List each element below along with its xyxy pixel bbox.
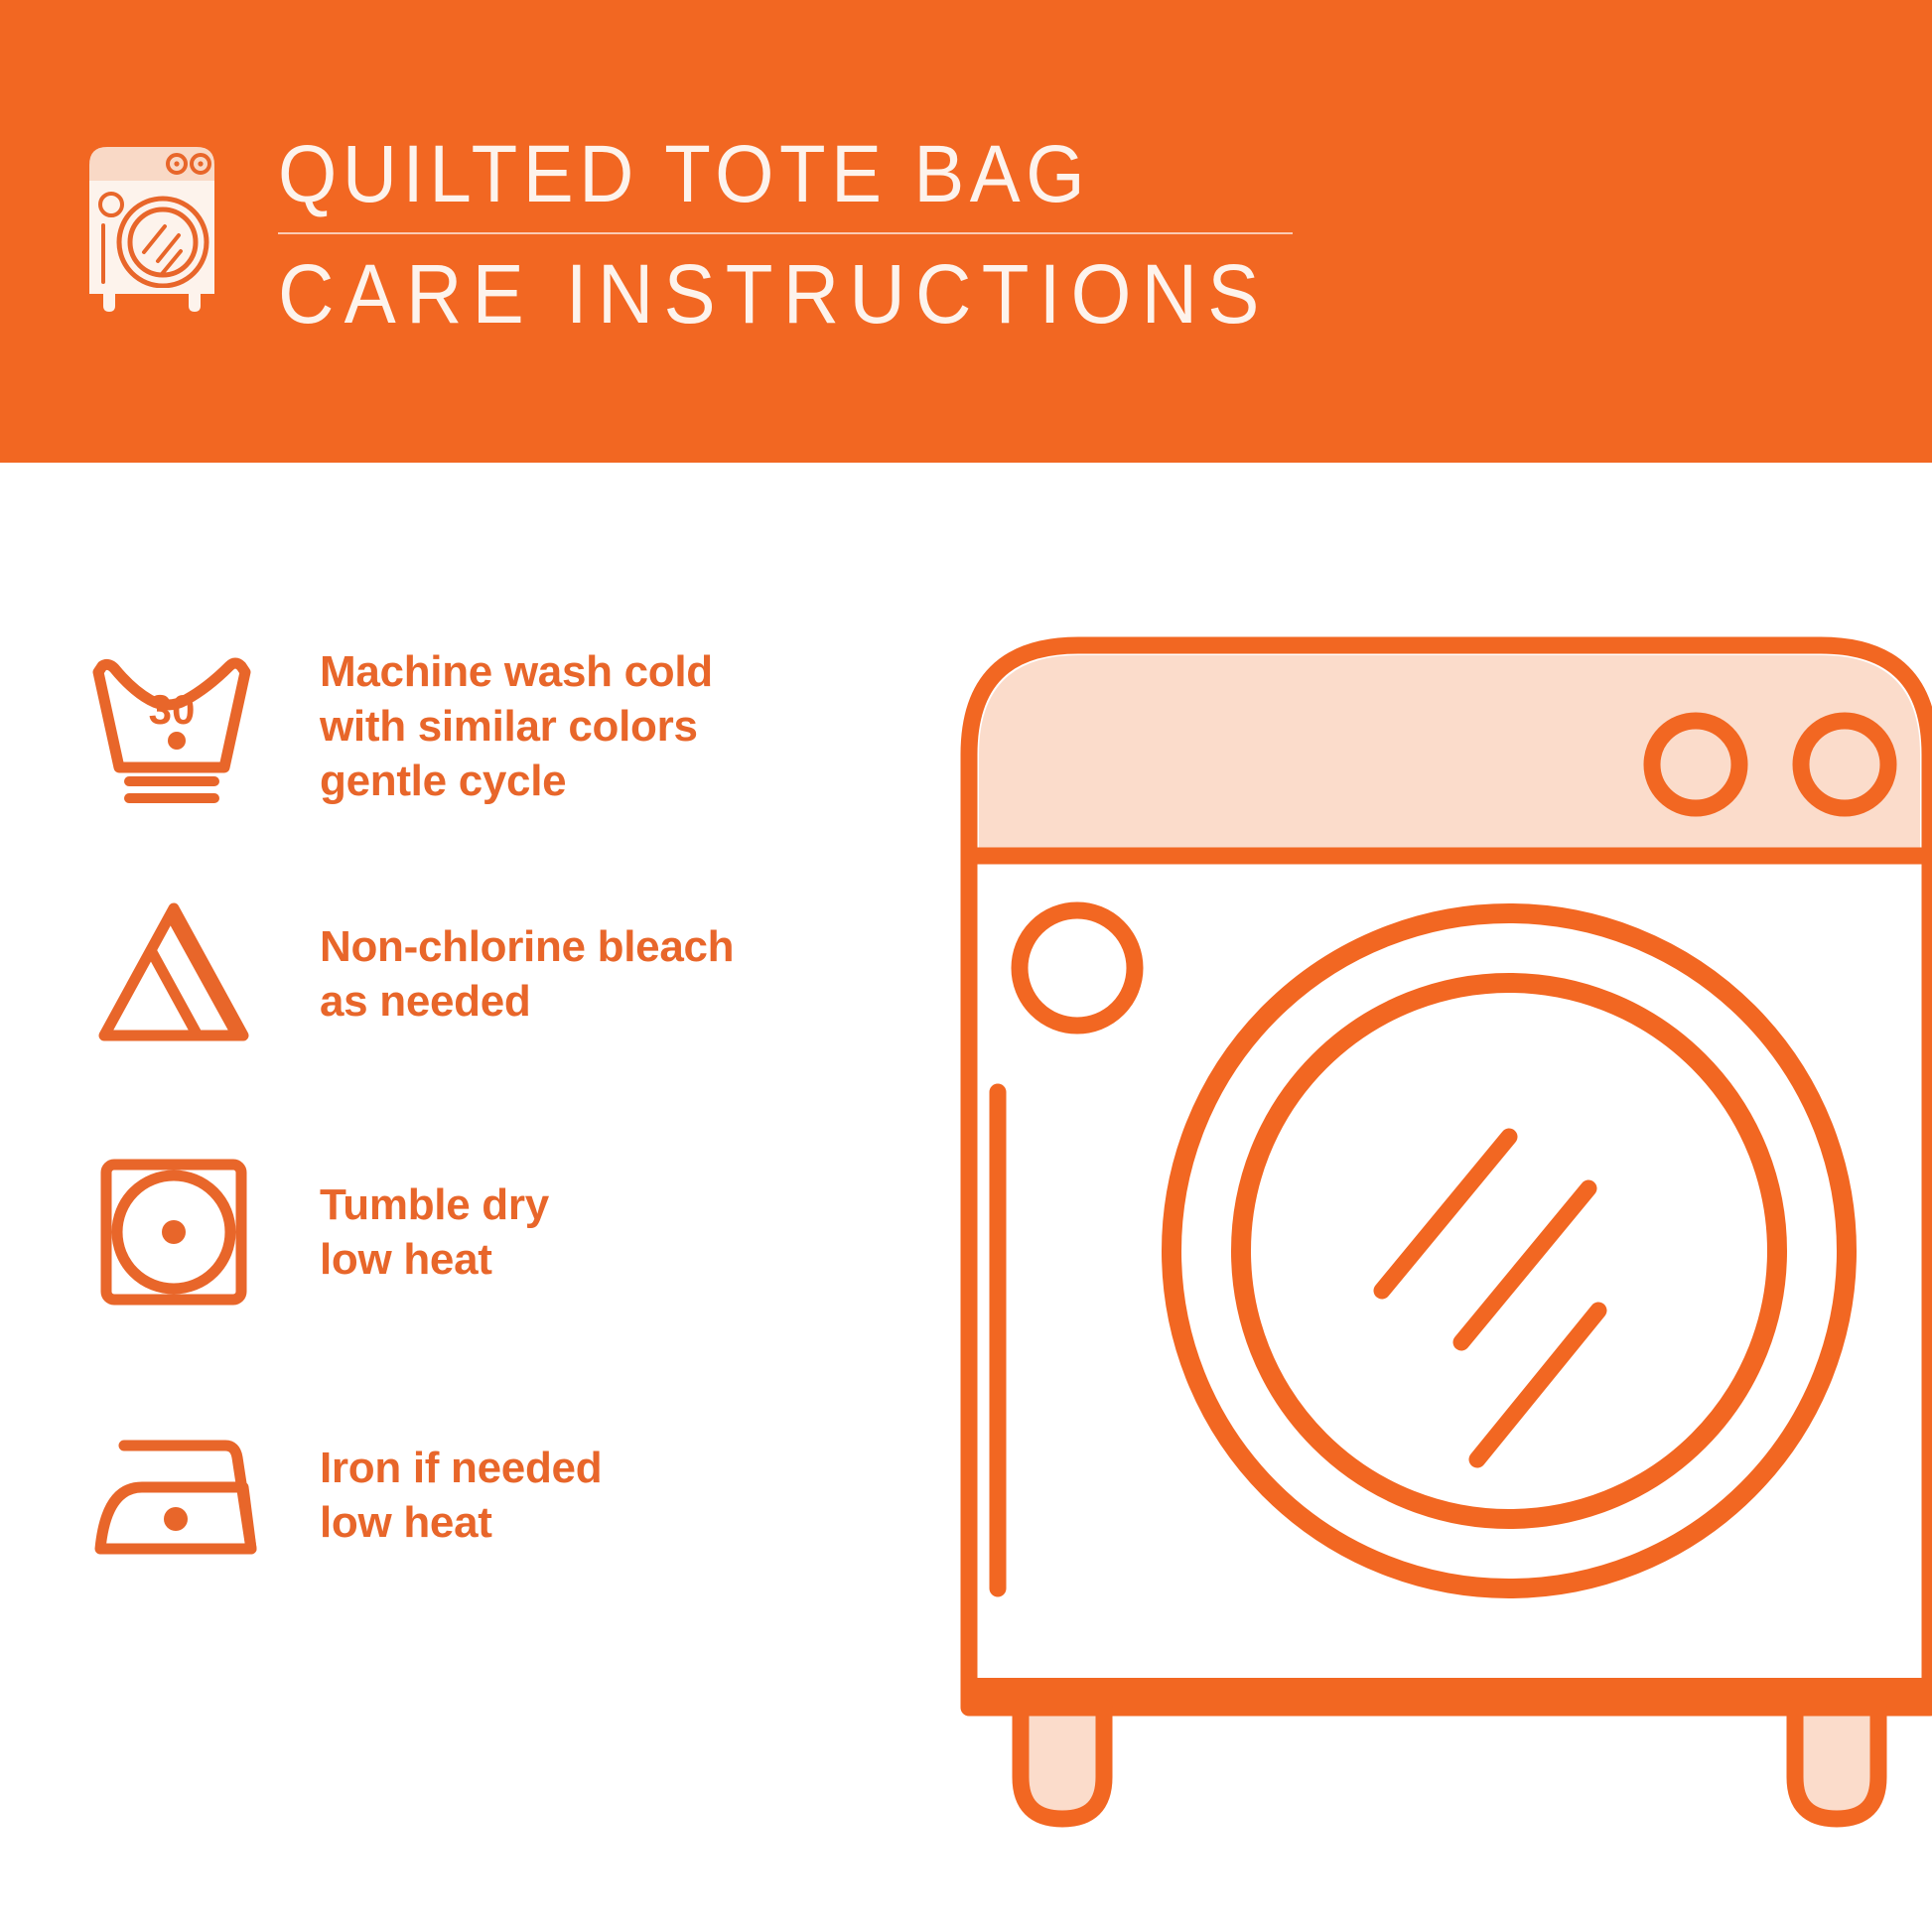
care-item-label: Non-chlorine bleach as needed xyxy=(320,919,734,1029)
page-subtitle: CARE INSTRUCTIONS xyxy=(278,248,1270,340)
care-instructions-page: QUILTED TOTE BAG CARE INSTRUCTIONS 30 xyxy=(0,0,1932,1932)
header-titles: QUILTED TOTE BAG CARE INSTRUCTIONS xyxy=(278,127,1344,340)
non-chlorine-bleach-triangle-icon xyxy=(79,890,268,1058)
header-band: QUILTED TOTE BAG CARE INSTRUCTIONS xyxy=(0,0,1932,463)
care-line: low heat xyxy=(320,1232,549,1287)
care-line: Non-chlorine bleach xyxy=(320,919,734,974)
care-line: as needed xyxy=(320,974,734,1029)
title-divider xyxy=(278,232,1293,234)
control-knob-left xyxy=(1652,721,1739,808)
care-item-label: Iron if needed low heat xyxy=(320,1441,602,1550)
page-title: QUILTED TOTE BAG xyxy=(278,131,1270,218)
care-line: Tumble dry xyxy=(320,1177,549,1232)
care-line: Iron if needed xyxy=(320,1441,602,1495)
iron-low-heat-icon xyxy=(79,1411,268,1580)
header-content: QUILTED TOTE BAG CARE INSTRUCTIONS xyxy=(77,127,1344,340)
care-item: Tumble dry low heat xyxy=(79,1148,913,1316)
care-line: with similar colors xyxy=(320,699,713,754)
front-load-washing-machine-illustration xyxy=(953,596,1932,1886)
svg-text:30: 30 xyxy=(149,686,196,733)
care-item-label: Tumble dry low heat xyxy=(320,1177,549,1287)
care-item: Iron if needed low heat xyxy=(79,1411,913,1580)
care-instruction-list: 30 Machine wash cold with similar colors… xyxy=(0,463,913,1932)
care-item-label: Machine wash cold with similar colors ge… xyxy=(320,644,713,808)
care-line: gentle cycle xyxy=(320,754,713,808)
control-knob-right xyxy=(1801,721,1888,808)
wash-tub-30-gentle-icon: 30 xyxy=(79,641,268,810)
care-line: Machine wash cold xyxy=(320,644,713,699)
washing-machine-icon xyxy=(77,135,226,314)
care-line: low heat xyxy=(320,1495,602,1550)
tumble-dry-low-heat-icon xyxy=(79,1148,268,1316)
care-item: 30 Machine wash cold with similar colors… xyxy=(79,641,913,810)
washer-leg-right xyxy=(1795,1708,1878,1819)
washer-leg-left xyxy=(1021,1708,1104,1819)
care-item: Non-chlorine bleach as needed xyxy=(79,890,913,1058)
